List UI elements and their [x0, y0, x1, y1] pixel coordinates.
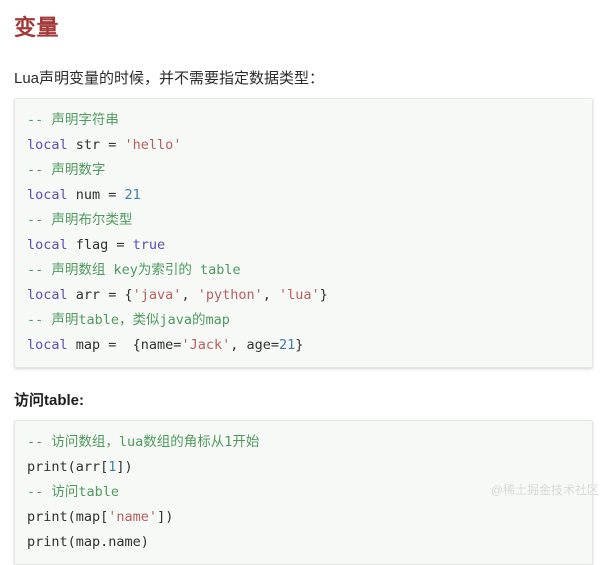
- page-root: 变量 Lua声明变量的时候，并不需要指定数据类型： -- 声明字符串local …: [0, 0, 611, 501]
- code-line: -- 声明数组 key为索引的 table: [27, 258, 592, 283]
- code-line: local str = 'hello': [27, 133, 592, 158]
- code-token-string: 'python': [198, 287, 263, 303]
- code-line: -- 声明字符串: [27, 108, 592, 133]
- code-token-plain: print(map[: [27, 509, 108, 525]
- code-token-comment: -- 声明字符串: [27, 112, 119, 128]
- code-token-plain: ]): [157, 509, 173, 525]
- code-token-keyword: local: [27, 187, 68, 203]
- code-token-plain: flag =: [68, 237, 133, 253]
- code-line: -- 声明数字: [27, 158, 592, 183]
- code-token-plain: , age=: [230, 337, 279, 353]
- code-token-keyword: true: [133, 237, 166, 253]
- code-token-plain: ,: [181, 287, 197, 303]
- code-token-comment: -- 声明数组 key为索引的 table: [27, 262, 241, 278]
- code-token-string: 'java': [133, 287, 182, 303]
- code-block-variable-declarations: -- 声明字符串local str = 'hello'-- 声明数字local …: [14, 98, 593, 368]
- code-token-plain: arr = {: [68, 287, 133, 303]
- code-line: local arr = {'java', 'python', 'lua'}: [27, 283, 592, 308]
- code-line: print(map.name): [27, 530, 592, 555]
- code-token-keyword: local: [27, 337, 68, 353]
- code-line: -- 声明布尔类型: [27, 208, 592, 233]
- code-token-number: 21: [279, 337, 295, 353]
- code-token-string: 'hello': [125, 137, 182, 153]
- code-line: -- 访问数组，lua数组的角标从1开始: [27, 430, 592, 455]
- code-token-string: 'lua': [279, 287, 320, 303]
- code-token-plain: ,: [263, 287, 279, 303]
- code-token-comment: -- 声明table，类似java的map: [27, 312, 230, 328]
- code-token-plain: }: [295, 337, 303, 353]
- code-token-plain: ]): [116, 459, 132, 475]
- code-token-plain: map = {name=: [68, 337, 182, 353]
- code-token-keyword: local: [27, 237, 68, 253]
- code-token-string: 'Jack': [181, 337, 230, 353]
- code-token-number: 21: [125, 187, 141, 203]
- code-token-keyword: local: [27, 287, 68, 303]
- code-token-plain: }: [320, 287, 328, 303]
- code-line: print(arr[1]): [27, 455, 592, 480]
- intro-paragraph: Lua声明变量的时候，并不需要指定数据类型：: [14, 42, 597, 89]
- page-title: 变量: [14, 0, 597, 42]
- code-line: -- 声明table，类似java的map: [27, 308, 592, 333]
- code-line: local flag = true: [27, 233, 592, 258]
- watermark: @稀土掘金技术社区: [491, 483, 599, 497]
- code-token-comment: -- 声明数字: [27, 162, 105, 178]
- code-token-plain: print(arr[: [27, 459, 108, 475]
- code-line: local num = 21: [27, 183, 592, 208]
- code-token-plain: str =: [68, 137, 125, 153]
- code-token-comment: -- 声明布尔类型: [27, 212, 132, 228]
- code-token-plain: print(map.name): [27, 534, 149, 550]
- section-heading-access-table: 访问table:: [14, 368, 597, 411]
- code-token-plain: num =: [68, 187, 125, 203]
- code-token-comment: -- 访问数组，lua数组的角标从1开始: [27, 434, 259, 450]
- code-line: print(map['name']): [27, 505, 592, 530]
- code-line: local map = {name='Jack', age=21}: [27, 333, 592, 358]
- code-token-keyword: local: [27, 137, 68, 153]
- code-token-string: 'name': [108, 509, 157, 525]
- code-token-comment: -- 访问table: [27, 484, 119, 500]
